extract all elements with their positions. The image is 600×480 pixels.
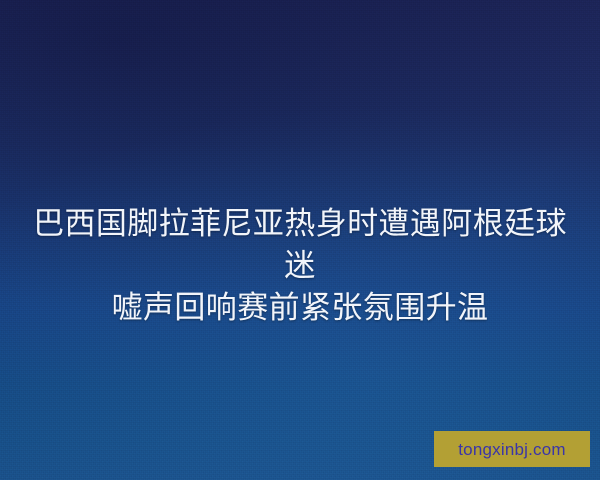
- site-watermark-badge[interactable]: tongxinbj.com: [434, 431, 590, 467]
- page-title: 巴西国脚拉菲尼亚热身时遭遇阿根廷球迷 嘘声回响赛前紧张氛围升温: [0, 203, 600, 329]
- news-title-card: 巴西国脚拉菲尼亚热身时遭遇阿根廷球迷 嘘声回响赛前紧张氛围升温 tongxinb…: [0, 0, 600, 480]
- site-watermark-label: tongxinbj.com: [458, 441, 566, 458]
